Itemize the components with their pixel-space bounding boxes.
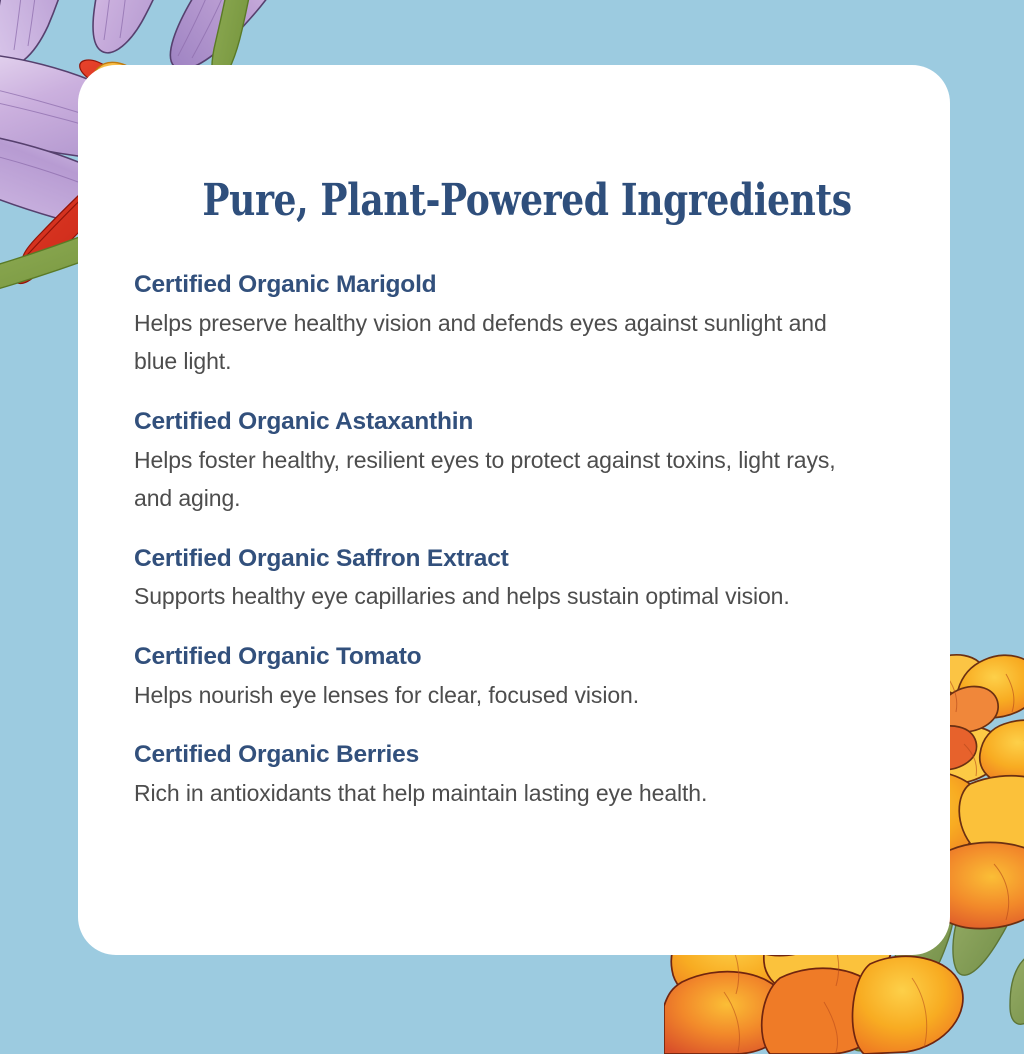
- list-item: Certified Organic Astaxanthin Helps fost…: [134, 407, 894, 518]
- ingredient-description: Helps preserve healthy vision and defend…: [134, 304, 864, 381]
- ingredients-card: Pure, Plant-Powered Ingredients Certifie…: [78, 65, 950, 955]
- list-item: Certified Organic Marigold Helps preserv…: [134, 270, 894, 381]
- ingredient-list: Certified Organic Marigold Helps preserv…: [134, 270, 894, 813]
- crocus-petal-upper-right: [170, 0, 301, 69]
- ingredient-name: Certified Organic Berries: [134, 740, 894, 771]
- ingredient-description: Rich in antioxidants that help maintain …: [134, 774, 864, 813]
- ingredient-name: Certified Organic Marigold: [134, 270, 894, 301]
- ingredient-description: Helps nourish eye lenses for clear, focu…: [134, 676, 864, 715]
- list-item: Certified Organic Saffron Extract Suppor…: [134, 544, 894, 616]
- ingredient-description: Helps foster healthy, resilient eyes to …: [134, 441, 864, 518]
- ingredient-description: Supports healthy eye capillaries and hel…: [134, 577, 864, 616]
- ingredient-name: Certified Organic Tomato: [134, 642, 894, 673]
- crocus-petal-top-left: [0, 0, 88, 66]
- crocus-petal-top-center: [93, 0, 188, 53]
- list-item: Certified Organic Tomato Helps nourish e…: [134, 642, 894, 714]
- ingredient-name: Certified Organic Saffron Extract: [134, 544, 894, 575]
- page-title: Pure, Plant-Powered Ingredients: [202, 175, 825, 226]
- card-content: Pure, Plant-Powered Ingredients Certifie…: [78, 175, 950, 813]
- poster-canvas: Pure, Plant-Powered Ingredients Certifie…: [0, 0, 1024, 1024]
- ingredient-name: Certified Organic Astaxanthin: [134, 407, 894, 438]
- list-item: Certified Organic Berries Rich in antiox…: [134, 740, 894, 812]
